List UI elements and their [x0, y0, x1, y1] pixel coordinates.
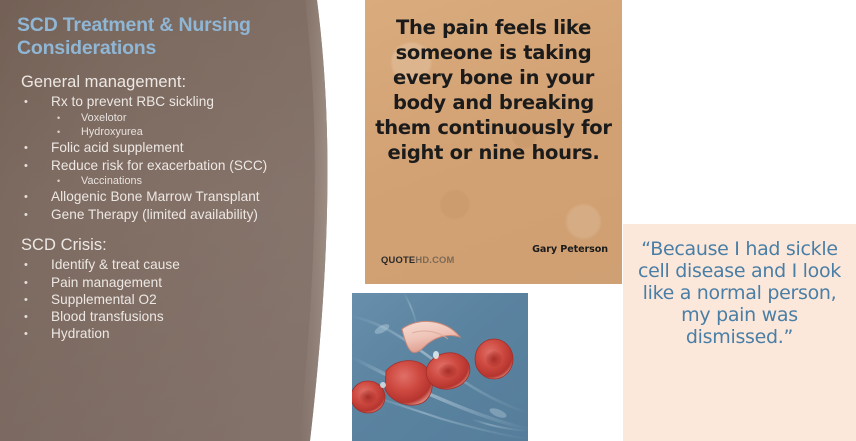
- bullet-icon: •: [24, 208, 28, 222]
- outline-item-supplemental-o2: • Supplemental O2: [0, 293, 305, 307]
- outline-item-hydroxyurea: • Hydroxyurea: [0, 127, 305, 138]
- bullet-icon: •: [57, 114, 60, 123]
- pain-quote-image: The pain feels like someone is taking ev…: [365, 0, 622, 284]
- outline-item-label: Supplemental O2: [24, 293, 157, 307]
- micrograph-graphic: [352, 293, 528, 441]
- testimonial-box: “Because I had sickle cell disease and I…: [623, 224, 856, 441]
- outline-item-rx-prevent-sickling: • Rx to prevent RBC sickling: [0, 95, 305, 109]
- outline-item-bone-marrow-transplant: • Allogenic Bone Marrow Transplant: [0, 190, 305, 204]
- outline-item-label: Rx to prevent RBC sickling: [24, 95, 214, 109]
- bullet-icon: •: [24, 141, 28, 155]
- watermark-light-part: HD.COM: [415, 254, 454, 265]
- outline-item-folic-acid: • Folic acid supplement: [0, 141, 305, 155]
- outline-heading-general-management: General management:: [0, 74, 305, 91]
- outline-item-label: Voxelotor: [57, 113, 126, 124]
- bullet-icon: •: [24, 190, 28, 204]
- watermark-bold-part: QUOTE: [381, 254, 415, 265]
- outline-item-label: Reduce risk for exacerbation (SCC): [24, 159, 267, 173]
- sidebar-panel: SCD Treatment & Nursing Considerations G…: [0, 0, 336, 441]
- outline-item-label: Vaccinations: [57, 176, 142, 187]
- bullet-icon: •: [24, 293, 28, 307]
- testimonial-text: “Because I had sickle cell disease and I…: [633, 238, 846, 348]
- sickle-cell-micrograph-image: [352, 293, 528, 441]
- bullet-icon: •: [24, 159, 28, 173]
- outline-item-reduce-risk: • Reduce risk for exacerbation (SCC): [0, 159, 305, 173]
- outline-item-label: Identify & treat cause: [24, 258, 180, 272]
- outline-spacer: [0, 225, 305, 237]
- outline-item-identify-treat-cause: • Identify & treat cause: [0, 258, 305, 272]
- bullet-icon: •: [24, 327, 28, 341]
- outline-item-label: Folic acid supplement: [24, 141, 184, 155]
- outline-list: General management: • Rx to prevent RBC …: [0, 74, 305, 345]
- bullet-icon: •: [24, 310, 28, 324]
- outline-item-label: Hydration: [24, 327, 110, 341]
- outline-item-label: Allogenic Bone Marrow Transplant: [24, 190, 260, 204]
- outline-item-vaccinations: • Vaccinations: [0, 176, 305, 187]
- bullet-icon: •: [57, 177, 60, 186]
- outline-item-blood-transfusions: • Blood transfusions: [0, 310, 305, 324]
- outline-item-voxelotor: • Voxelotor: [0, 113, 305, 124]
- outline-item-label: Gene Therapy (limited availability): [24, 208, 258, 222]
- outline-item-hydration: • Hydration: [0, 327, 305, 341]
- outline-item-pain-management: • Pain management: [0, 276, 305, 290]
- bullet-icon: •: [24, 276, 28, 290]
- page-title: SCD Treatment & Nursing Considerations: [17, 14, 285, 60]
- bullet-icon: •: [57, 128, 60, 137]
- sidebar-content: SCD Treatment & Nursing Considerations G…: [0, 0, 300, 441]
- bullet-icon: •: [24, 258, 28, 272]
- quote-attribution: Gary Peterson: [532, 244, 608, 255]
- outline-item-label: Pain management: [24, 276, 162, 290]
- outline-item-label: Hydroxyurea: [57, 127, 143, 138]
- quote-text: The pain feels like someone is taking ev…: [371, 16, 616, 166]
- slide-canvas: SCD Treatment & Nursing Considerations G…: [0, 0, 856, 441]
- outline-item-gene-therapy: • Gene Therapy (limited availability): [0, 208, 305, 222]
- quotehd-watermark: QUOTEHD.COM: [381, 254, 455, 265]
- outline-item-label: Blood transfusions: [24, 310, 164, 324]
- outline-heading-scd-crisis: SCD Crisis:: [0, 237, 305, 254]
- bullet-icon: •: [24, 95, 28, 109]
